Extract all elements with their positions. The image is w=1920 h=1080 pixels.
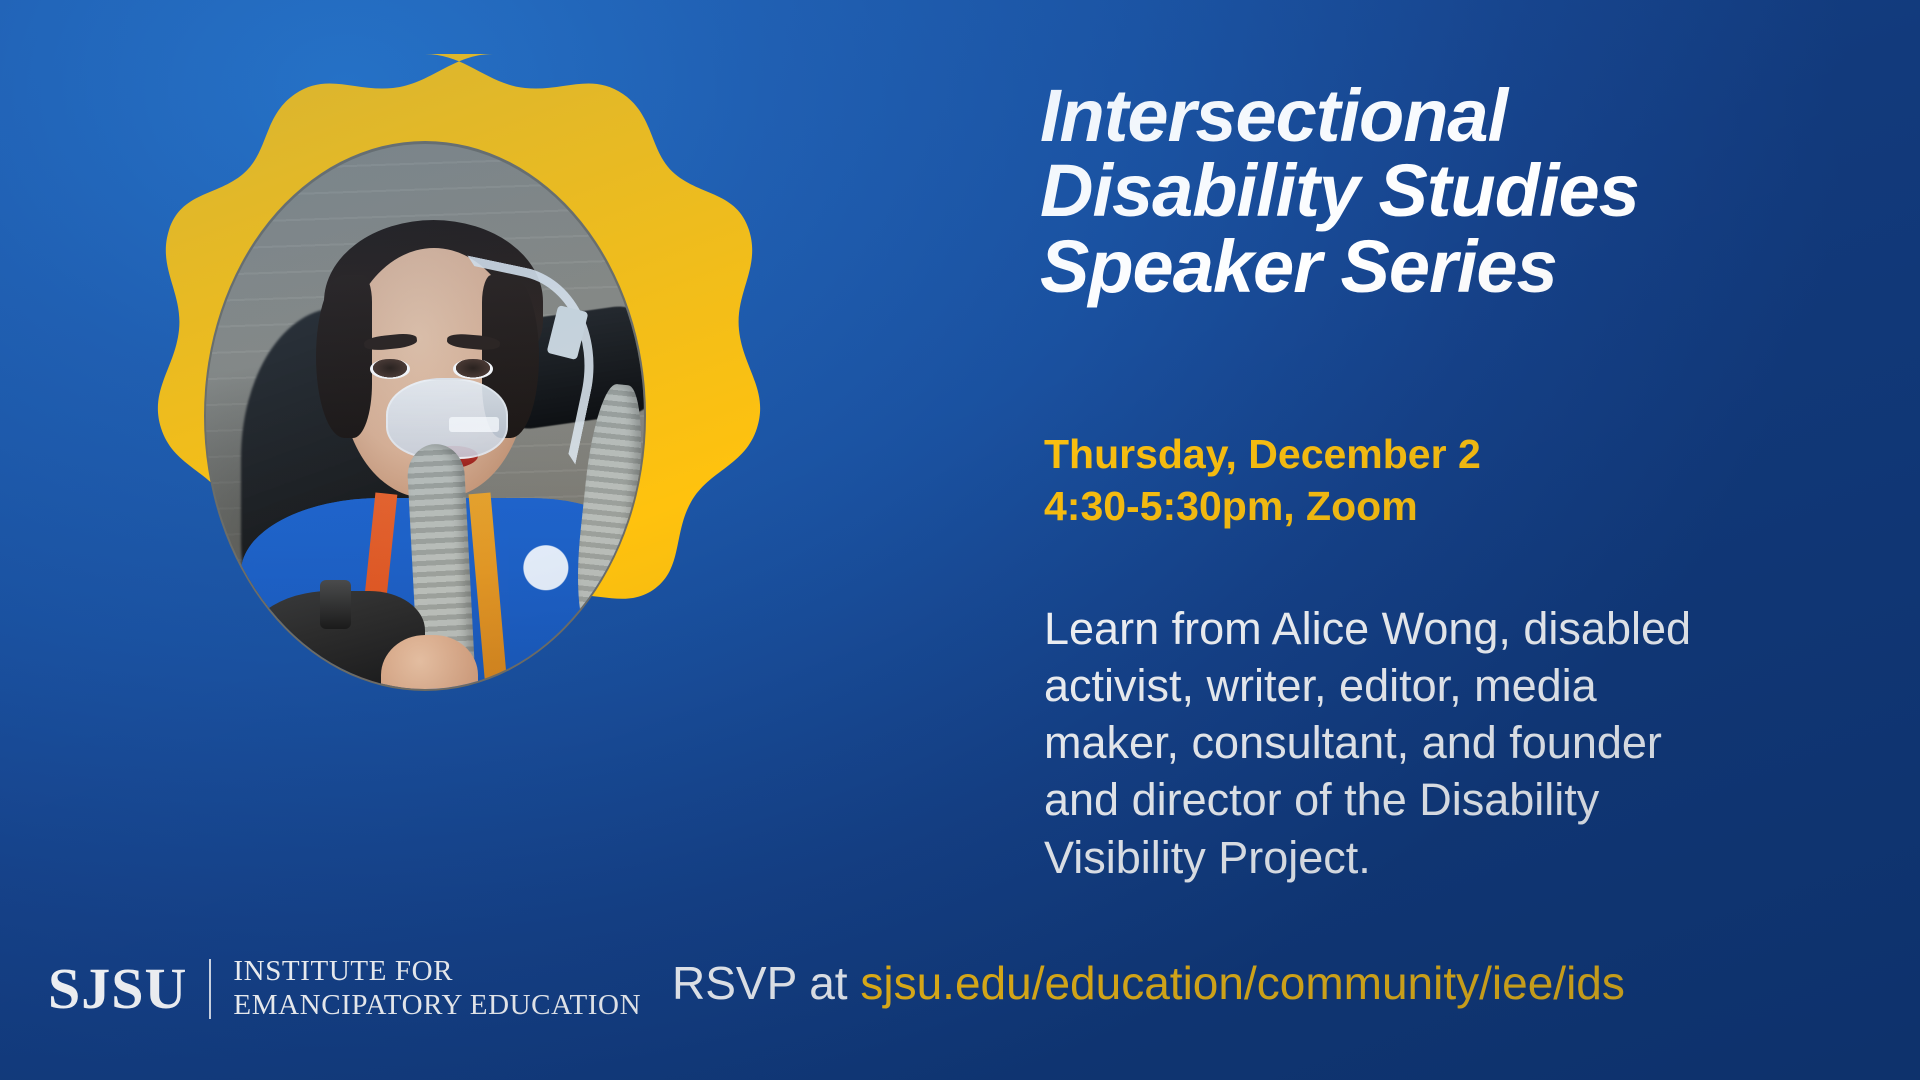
description-line-2: activist, writer, editor, media — [1044, 657, 1854, 714]
title-line-3: Speaker Series — [1040, 229, 1840, 304]
sjsu-logo-lockup: SJSU INSTITUTE FOR EMANCIPATORY EDUCATIO… — [48, 955, 641, 1022]
description-line-5: Visibility Project. — [1044, 829, 1854, 886]
event-time-location: 4:30-5:30pm, Zoom — [1044, 480, 1804, 532]
logo-divider — [209, 959, 211, 1019]
page-title: Intersectional Disability Studies Speake… — [1040, 78, 1840, 304]
rsvp-url[interactable]: sjsu.edu/education/community/iee/ids — [860, 957, 1625, 1009]
sjsu-wordmark: SJSU — [48, 960, 187, 1018]
title-line-2: Disability Studies — [1040, 153, 1840, 228]
description-line-4: and director of the Disability — [1044, 771, 1854, 828]
description-line-1: Learn from Alice Wong, disabled — [1044, 600, 1854, 657]
rsvp-line: RSVP at sjsu.edu/education/community/iee… — [672, 956, 1625, 1010]
event-date: Thursday, December 2 — [1044, 428, 1804, 480]
eye-left — [370, 359, 409, 379]
title-line-1: Intersectional — [1040, 78, 1840, 153]
institute-name: INSTITUTE FOR EMANCIPATORY EDUCATION — [233, 955, 641, 1022]
institute-name-line-1: INSTITUTE FOR — [233, 955, 641, 988]
event-flyer: Intersectional Disability Studies Speake… — [0, 0, 1920, 1080]
portrait-badge — [60, 46, 790, 786]
institute-name-line-2: EMANCIPATORY EDUCATION — [233, 989, 641, 1022]
event-description: Learn from Alice Wong, disabled activist… — [1044, 600, 1854, 886]
content-column: Intersectional Disability Studies Speake… — [1040, 0, 1870, 1080]
portrait-photo — [206, 144, 644, 689]
rsvp-prefix: RSVP at — [672, 957, 860, 1009]
event-datetime: Thursday, December 2 4:30-5:30pm, Zoom — [1044, 428, 1804, 533]
description-line-3: maker, consultant, and founder — [1044, 714, 1854, 771]
